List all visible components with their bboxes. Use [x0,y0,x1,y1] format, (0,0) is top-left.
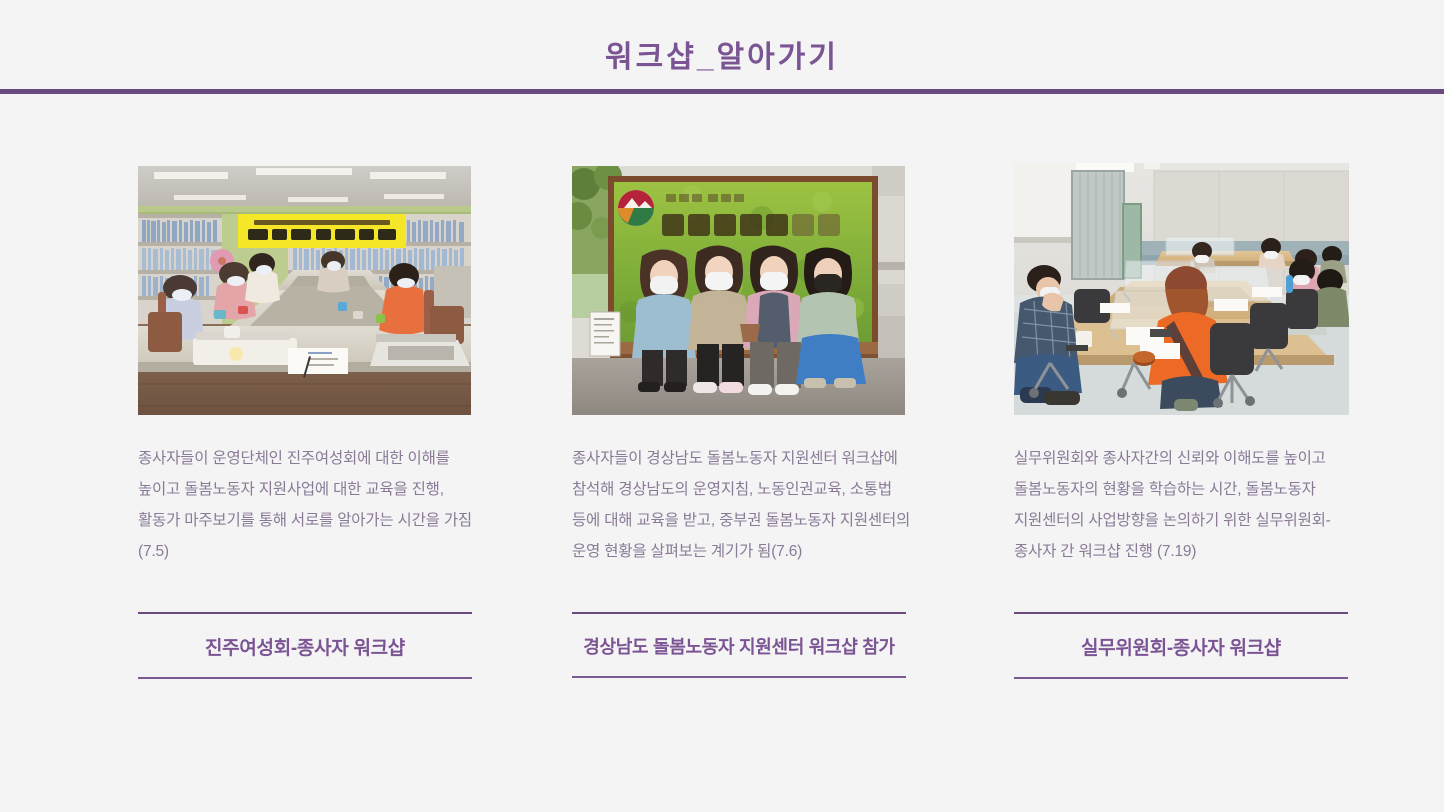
workshop-label-block-2: 경상남도 돌봄노동자 지원센터 워크샵 참가 [572,612,906,678]
label-divider-bottom-1 [138,677,472,679]
workshop-description-3: 실무위원회와 종사자간의 신뢰와 이해도를 높이고 돌봄노동자의 현황을 학습하… [1014,443,1360,567]
workshop-photo-3 [1014,163,1349,415]
content-columns: 종사자들이 운영단체인 진주여성회에 대한 이해를 높이고 돌봄노동자 지원사업… [0,93,1444,812]
workshop-label-3: 실무위원회-종사자 워크샵 [1014,614,1348,677]
library-meeting-photo [138,166,471,415]
workshop-description-1: 종사자들이 운영단체인 진주여성회에 대한 이해를 높이고 돌봄노동자 지원사업… [138,443,479,567]
workshop-description-2: 종사자들이 경상남도 돌봄노동자 지원센터 워크샵에 참석해 경상남도의 운영지… [572,443,913,567]
workshop-label-block-3: 실무위원회-종사자 워크샵 [1014,612,1348,679]
workshop-label-1: 진주여성회-종사자 워크샵 [138,614,472,677]
workshop-photo-1 [138,166,471,415]
page-header: 워크샵_알아가기 [0,0,1444,93]
page-title: 워크샵_알아가기 [0,40,1444,76]
group-photo-moss-wall [572,166,905,415]
label-divider-bottom-2 [572,676,906,678]
workshop-photo-2 [572,166,905,415]
workshop-label-block-1: 진주여성회-종사자 워크샵 [138,612,472,679]
label-divider-bottom-3 [1014,677,1348,679]
committee-meeting-photo [1014,163,1349,415]
workshop-label-2: 경상남도 돌봄노동자 지원센터 워크샵 참가 [572,614,906,676]
